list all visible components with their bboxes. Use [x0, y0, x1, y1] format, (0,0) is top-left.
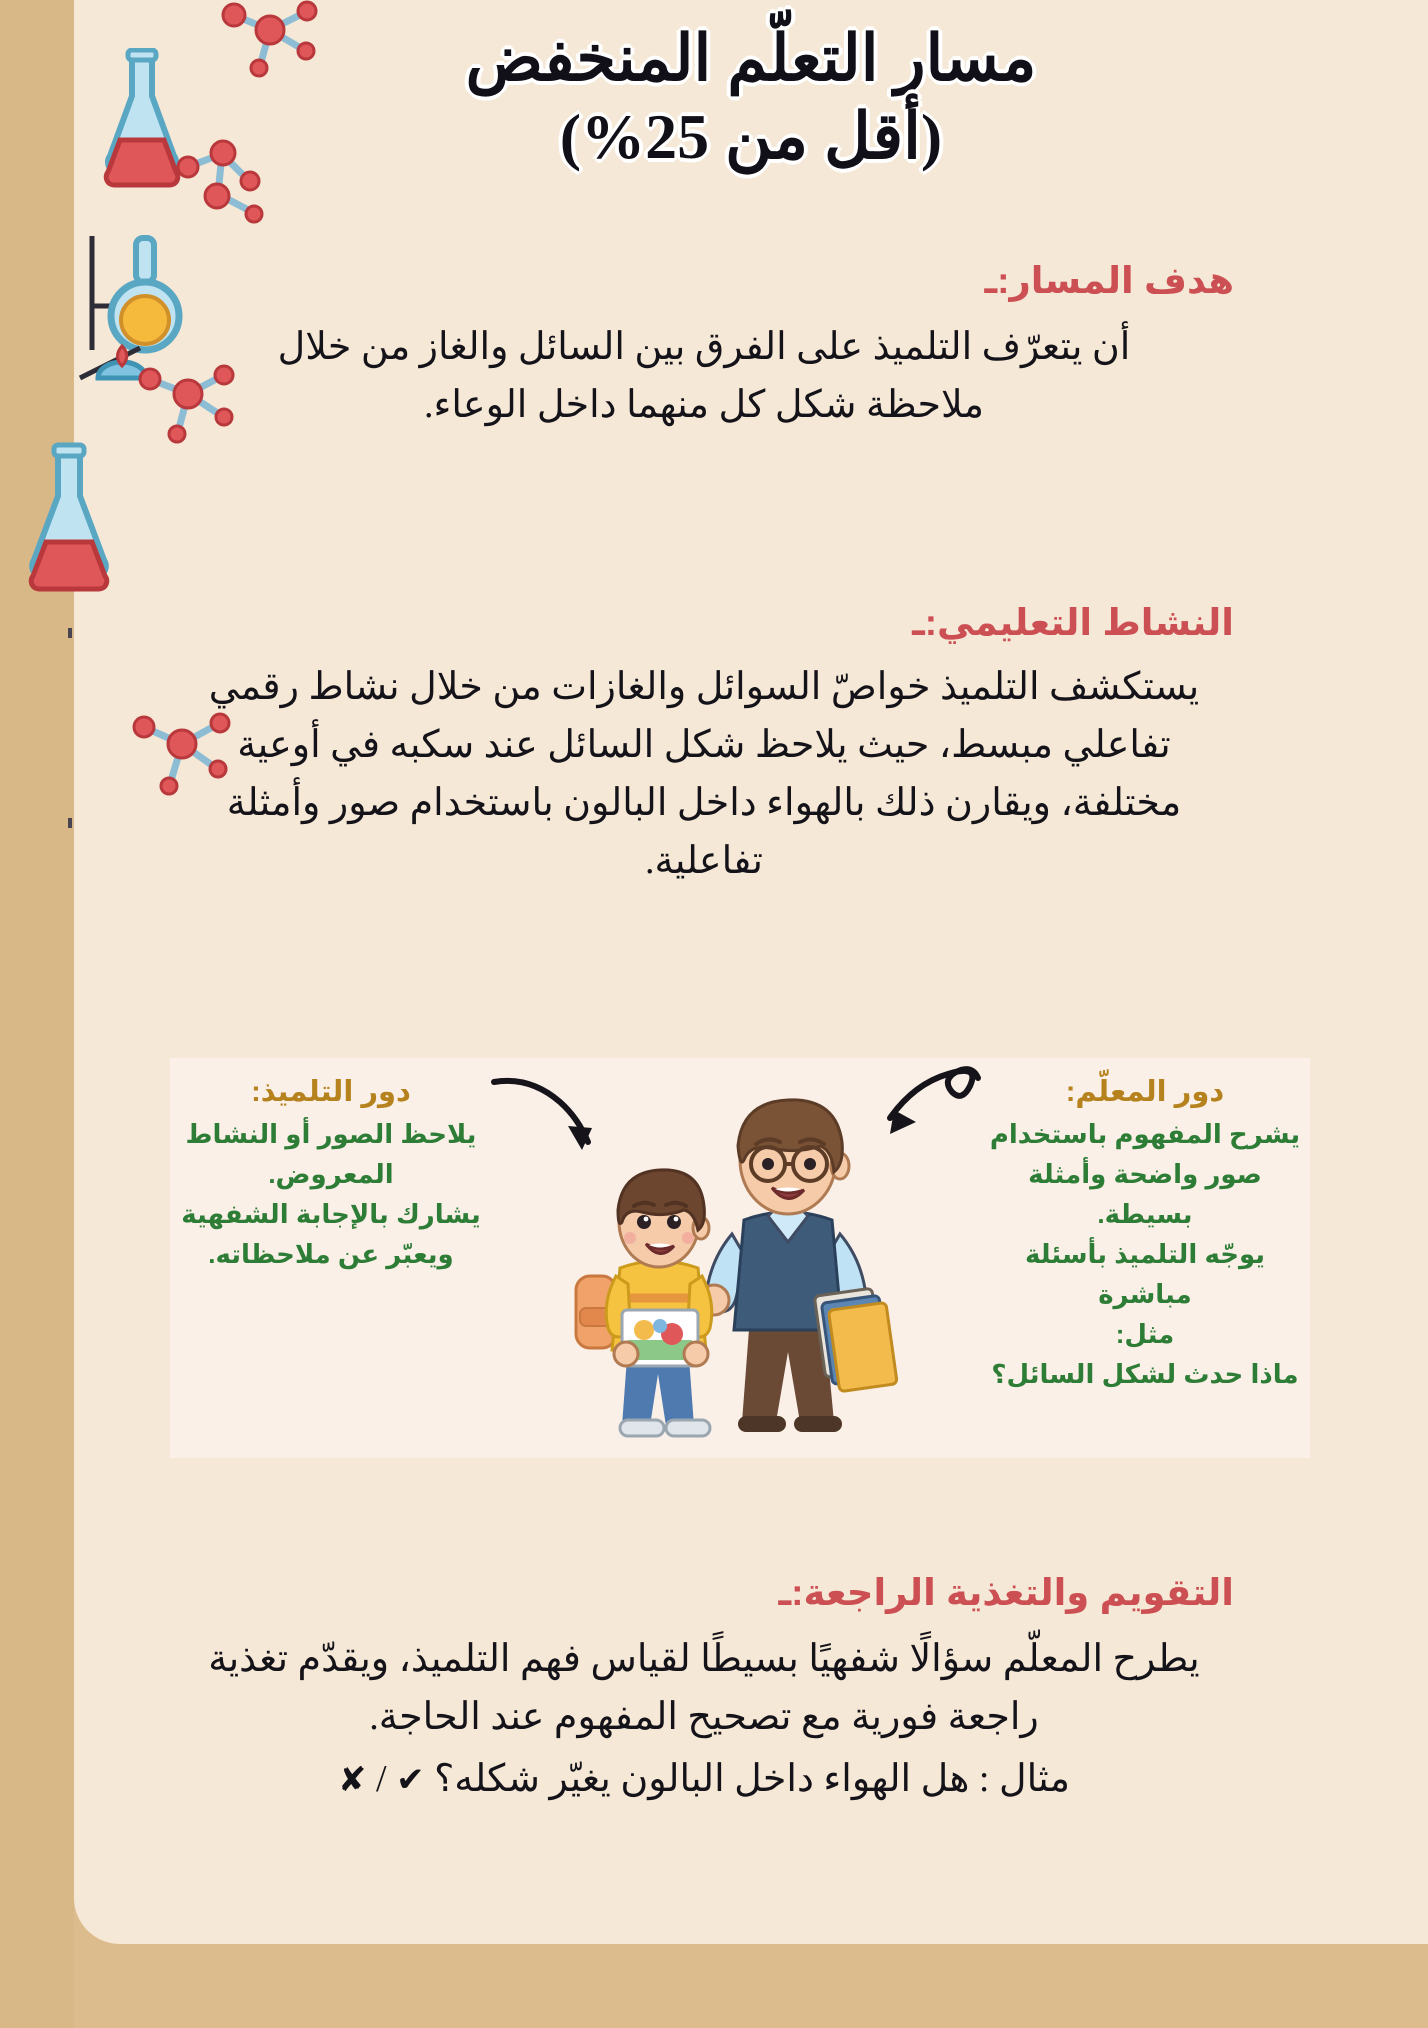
student-role-column: دور التلميذ: يلاحظ الصور أو النشاط المعر…	[170, 1058, 510, 1274]
teacher-role-line-1: يشرح المفهوم باستخدام	[980, 1114, 1310, 1154]
teacher-role-line-3: يوجّه التلميذ بأسئلة مباشرة	[980, 1234, 1310, 1314]
student-role-line-3: يشارك بالإجابة الشفهية	[170, 1194, 492, 1234]
activity-body: يستكشف التلميذ خواصّ السوائل والغازات من…	[174, 658, 1234, 890]
student-role-text: يلاحظ الصور أو النشاط المعروض. يشارك بال…	[170, 1114, 492, 1274]
student-role-line-4: ويعبّر عن ملاحظاته.	[170, 1234, 492, 1274]
student-role-line-2: المعروض.	[170, 1154, 492, 1194]
teacher-role-text: يشرح المفهوم باستخدام صور واضحة وأمثلة ب…	[980, 1114, 1310, 1394]
curved-arrow-icon	[866, 1062, 986, 1154]
assessment-heading: التقويم والتغذية الراجعة:ـ	[174, 1570, 1234, 1616]
teacher-role-title: دور المعلّم:	[980, 1072, 1310, 1112]
teacher-role-line-4: مثل:	[980, 1314, 1310, 1354]
page-left-border	[0, 0, 74, 2028]
assessment-body: يطرح المعلّم سؤالًا شفهيًا بسيطًا لقياس …	[174, 1630, 1234, 1746]
page-title: مسار التعلّم المنخفض (أقل من 25%)	[74, 20, 1428, 176]
roles-panel: دور المعلّم: يشرح المفهوم باستخدام صور و…	[170, 1058, 1310, 1458]
student-figure-icon	[566, 1158, 756, 1448]
title-line-1: مسار التعلّم المنخفض	[74, 20, 1428, 98]
teacher-role-line-2: صور واضحة وأمثلة بسيطة.	[980, 1154, 1310, 1234]
section-activity: النشاط التعليمي:ـ يستكشف التلميذ خواصّ ا…	[174, 600, 1234, 890]
teacher-role-column: دور المعلّم: يشرح المفهوم باستخدام صور و…	[970, 1058, 1310, 1394]
section-assessment: التقويم والتغذية الراجعة:ـ يطرح المعلّم …	[174, 1570, 1234, 1809]
example-separator: /	[376, 1758, 387, 1800]
poster-page: مسار التعلّم المنخفض (أقل من 25%) هدف ال…	[0, 0, 1428, 2028]
cross-mark-icon: ✘	[338, 1760, 367, 1800]
teacher-and-student-illustration	[560, 1058, 920, 1450]
student-role-title: دور التلميذ:	[170, 1072, 492, 1112]
goal-body: أن يتعرّف التلميذ على الفرق بين السائل و…	[174, 318, 1234, 434]
activity-heading: النشاط التعليمي:ـ	[174, 600, 1234, 646]
assessment-example-text: مثال : هل الهواء داخل البالون يغيّر شكله…	[434, 1758, 1070, 1800]
goal-heading: هدف المسار:ـ	[174, 258, 1234, 304]
teacher-role-line-5: ماذا حدث لشكل السائل؟	[980, 1354, 1310, 1394]
check-mark-icon: ✔	[396, 1760, 425, 1800]
section-goal: هدف المسار:ـ أن يتعرّف التلميذ على الفرق…	[174, 258, 1234, 434]
curved-arrow-icon	[486, 1068, 606, 1164]
student-role-line-1: يلاحظ الصور أو النشاط	[170, 1114, 492, 1154]
assessment-example-line: مثال : هل الهواء داخل البالون يغيّر شكله…	[174, 1750, 1234, 1809]
title-line-2: (أقل من 25%)	[74, 98, 1428, 176]
